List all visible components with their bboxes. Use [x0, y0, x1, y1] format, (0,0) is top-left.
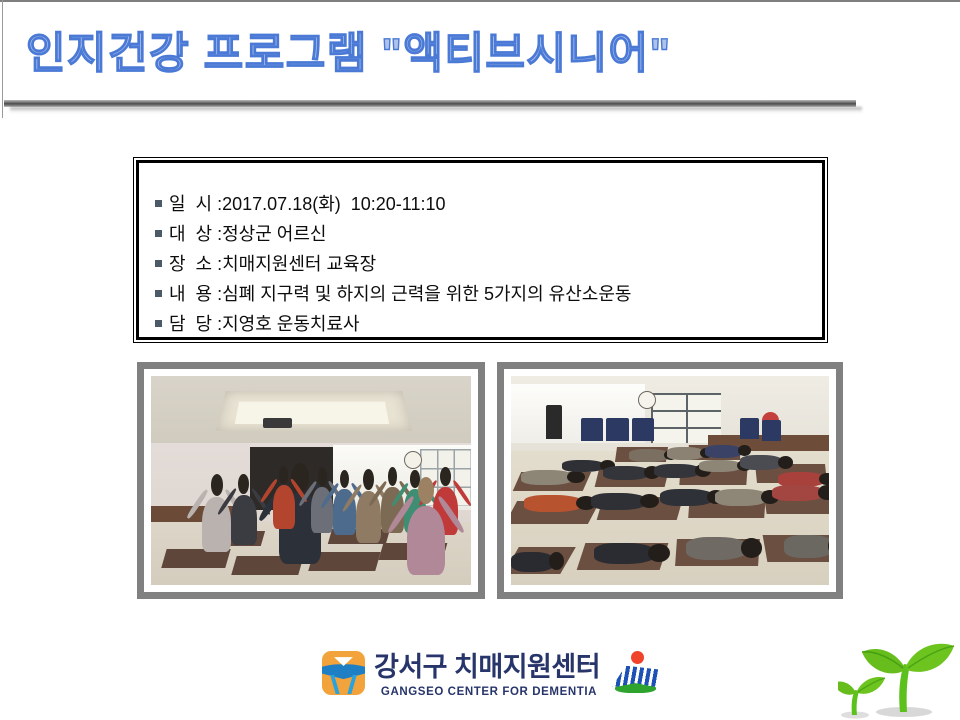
- info-label: 내 용 :: [169, 281, 222, 307]
- photo-mat: [144, 369, 478, 592]
- info-row: 대 상 : 정상군 어르신: [155, 221, 822, 248]
- logo-title-english: GANGSEO CENTER FOR DEMENTIA: [374, 685, 604, 699]
- info-row: 일 시 : 2017.07.18(화) 10:20-11:10: [155, 191, 822, 218]
- info-value: 심폐 지구력 및 하지의 근력을 위한 5가지의 유산소운동: [222, 281, 631, 307]
- bullet-square-icon: [155, 230, 162, 237]
- logo-title-korean: 강서구 치매지원센터: [374, 648, 604, 686]
- info-row: 담 당 : 지영호 운동치료사: [155, 311, 822, 338]
- gangseo-gu-emblem-icon: [610, 650, 660, 696]
- title-area: 인지건강 프로그램 "액티브시니어": [0, 22, 960, 92]
- slide-top-edge-line: [0, 0, 960, 2]
- bullet-square-icon: [155, 320, 162, 327]
- bullet-square-icon: [155, 200, 162, 207]
- header-divider: [4, 100, 856, 107]
- slide-canvas: 인지건강 프로그램 "액티브시니어" 일 시 : 2017.07.18(화) 1…: [0, 0, 960, 720]
- info-value: 치매지원센터 교육장: [222, 251, 376, 277]
- footer-logo: 강서구 치매지원센터 GANGSEO CENTER FOR DEMENTIA: [322, 648, 664, 704]
- info-label: 장 소 :: [169, 251, 222, 277]
- photo-mat: [504, 369, 836, 592]
- bullet-square-icon: [155, 290, 162, 297]
- bullet-square-icon: [155, 260, 162, 267]
- info-value: 정상군 어르신: [222, 221, 326, 247]
- sprout-decoration-icon: [838, 620, 960, 720]
- photo-frame-right: [497, 362, 843, 599]
- info-box-inner: 일 시 : 2017.07.18(화) 10:20-11:10 대 상 : 정상…: [136, 160, 825, 340]
- logo-text-block: 강서구 치매지원센터 GANGSEO CENTER FOR DEMENTIA: [374, 648, 604, 704]
- gangseo-ci-person-icon: [322, 651, 365, 695]
- info-label: 대 상 :: [169, 221, 222, 247]
- info-box: 일 시 : 2017.07.18(화) 10:20-11:10 대 상 : 정상…: [133, 157, 828, 343]
- info-label: 일 시 :: [169, 191, 222, 217]
- photo-frame-left: [137, 362, 485, 599]
- divider-shadow: [10, 107, 862, 113]
- page-title: 인지건강 프로그램 "액티브시니어": [26, 22, 672, 86]
- info-label: 담 당 :: [169, 311, 222, 337]
- info-value: 2017.07.18(화) 10:20-11:10: [222, 191, 445, 217]
- info-row: 장 소 : 치매지원센터 교육장: [155, 251, 822, 278]
- standing-exercise-photo: [151, 376, 471, 585]
- info-value: 지영호 운동치료사: [222, 311, 359, 337]
- floor-mat-exercise-photo: [511, 376, 829, 585]
- divider-bar: [4, 100, 856, 107]
- info-row: 내 용 : 심폐 지구력 및 하지의 근력을 위한 5가지의 유산소운동: [155, 281, 822, 308]
